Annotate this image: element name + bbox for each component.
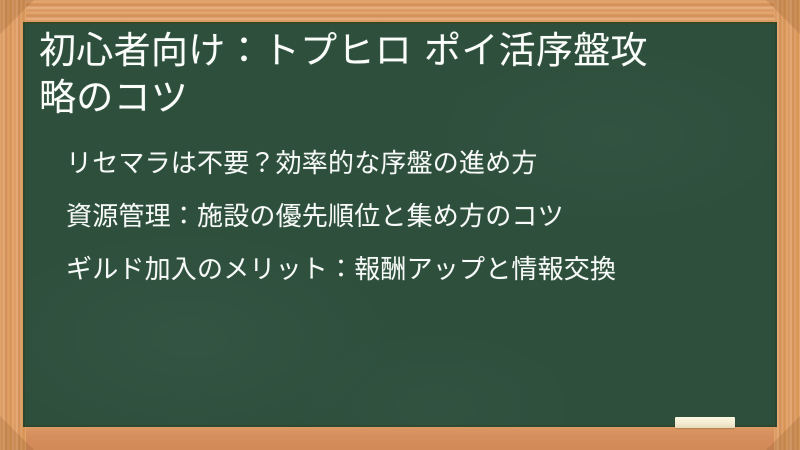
board-content: 初心者向け：トプヒロ ポイ活序盤攻 略のコツ リセマラは不要？効率的な序盤の進め… [23,22,777,427]
frame-rail-bottom [0,427,800,450]
topic-list: リセマラは不要？効率的な序盤の進め方 資源管理：施設の優先順位と集め方のコツ ギ… [31,151,769,283]
page-title: 初心者向け：トプヒロ ポイ活序盤攻 略のコツ [31,28,769,121]
frame-rail-top [0,0,800,24]
chalk-stick [675,417,735,428]
chalkboard-slide: 初心者向け：トプヒロ ポイ活序盤攻 略のコツ リセマラは不要？効率的な序盤の進め… [0,0,800,450]
list-item: 資源管理：施設の優先順位と集め方のコツ [66,204,769,230]
list-item: ギルド加入のメリット：報酬アップと情報交換 [66,257,769,283]
frame-rail-right [774,0,800,450]
chalkboard-surface: 初心者向け：トプヒロ ポイ活序盤攻 略のコツ リセマラは不要？効率的な序盤の進め… [23,22,777,427]
list-item: リセマラは不要？効率的な序盤の進め方 [66,151,769,177]
